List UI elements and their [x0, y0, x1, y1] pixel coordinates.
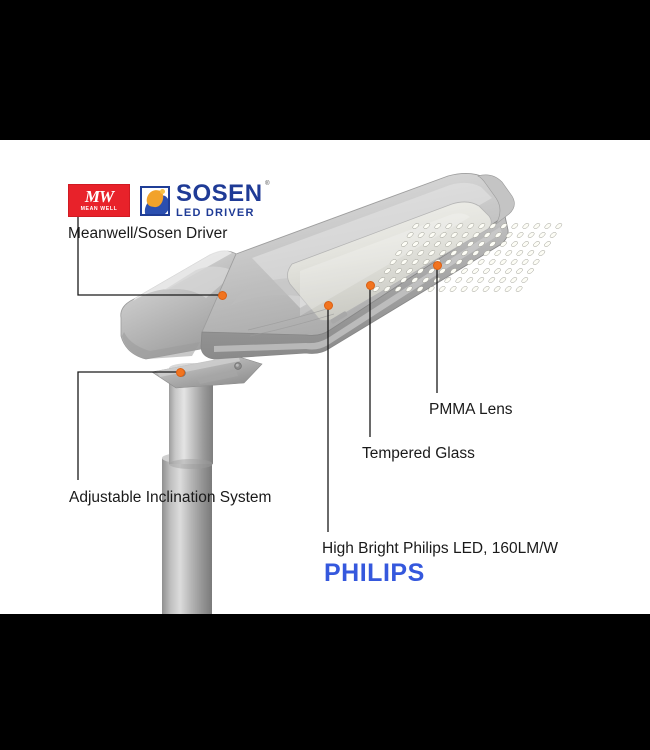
marker-dot-led — [324, 301, 333, 310]
meanwell-wordmark: MEAN WELL — [81, 207, 118, 212]
marker-dot-glass — [366, 281, 375, 290]
callout-label-glass: Tempered Glass — [362, 445, 475, 463]
letterbox-top-bar — [0, 0, 650, 140]
marker-dot-driver — [218, 291, 227, 300]
sosen-logo: SOSEN LED DRIVER ® — [140, 182, 263, 219]
philips-logo: PHILIPS — [324, 559, 425, 588]
screenshot-stage: MW MEAN WELL SOSEN LED DRIVER ® Meanwell… — [0, 0, 650, 750]
leader-inclination — [78, 372, 180, 480]
letterbox-bottom-bar — [0, 614, 650, 750]
callout-label-driver: Meanwell/Sosen Driver — [68, 225, 227, 243]
callout-label-led: High Bright Philips LED, 160LM/W — [322, 540, 558, 558]
callout-label-lens: PMMA Lens — [429, 401, 513, 419]
meanwell-mark-text: MW — [85, 188, 113, 205]
marker-dot-lens — [433, 261, 442, 270]
sosen-wordmark: SOSEN — [176, 182, 263, 206]
leader-driver — [78, 207, 222, 295]
callout-label-inclination: Adjustable Inclination System — [69, 489, 271, 507]
driver-brand-logos: MW MEAN WELL SOSEN LED DRIVER ® — [68, 182, 263, 219]
sosen-mark-icon — [140, 186, 170, 216]
diagram-canvas: MW MEAN WELL SOSEN LED DRIVER ® Meanwell… — [0, 140, 650, 614]
marker-dot-inclination — [176, 368, 185, 377]
sosen-tagline: LED DRIVER — [176, 208, 263, 219]
sosen-registered-icon: ® — [265, 181, 269, 187]
meanwell-logo: MW MEAN WELL — [68, 184, 130, 217]
